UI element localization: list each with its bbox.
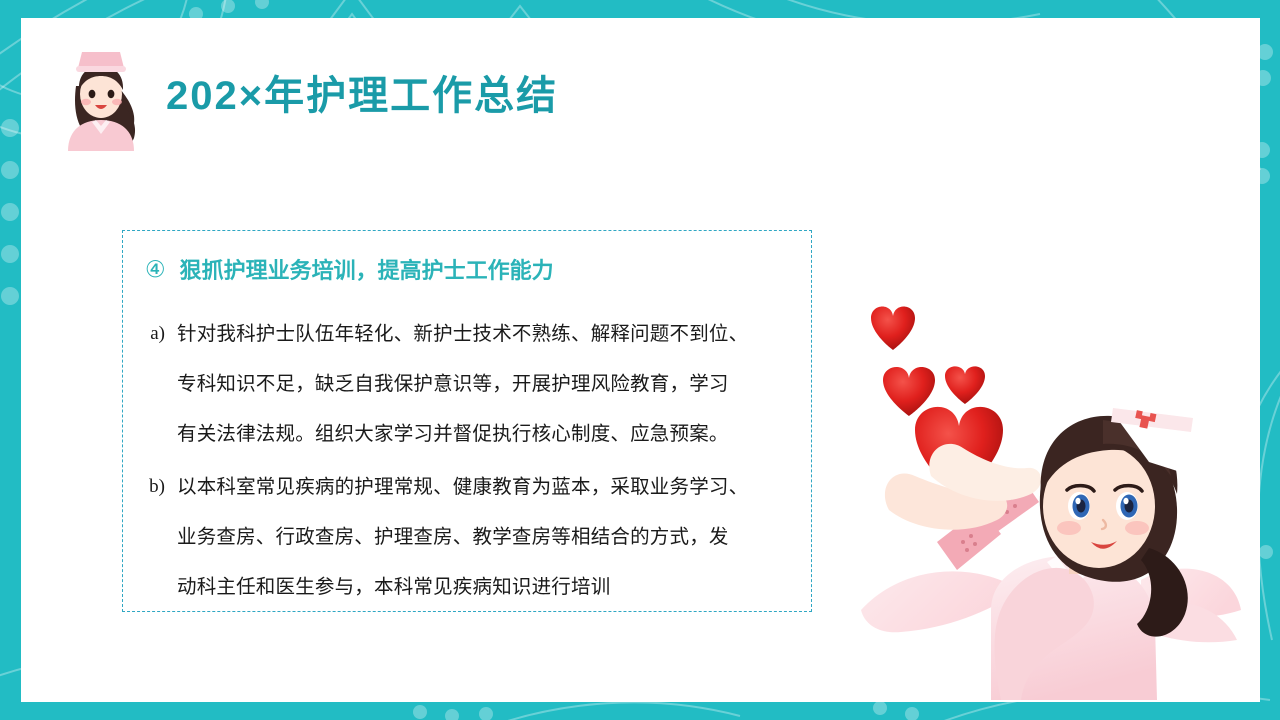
list-item-lines: 以本科室常见疾病的护理常规、健康教育为蓝本，采取业务学习、 业务查房、行政查房、… bbox=[177, 462, 803, 612]
list-item: b) 以本科室常见疾病的护理常规、健康教育为蓝本，采取业务学习、 业务查房、行政… bbox=[131, 462, 803, 612]
list-item-line: 业务查房、行政查房、护理查房、教学查房等相结合的方式，发 bbox=[177, 512, 803, 562]
content-card: 202×年护理工作总结 ④ 狠抓护理业务培训，提高护士工作能力 a) 针对我科护… bbox=[21, 18, 1260, 702]
list-item-lines: 针对我科护士队伍年轻化、新护士技术不熟练、解释问题不到位、 专科知识不足，缺乏自… bbox=[177, 309, 803, 459]
section-heading: ④ 狠抓护理业务培训，提高护士工作能力 bbox=[145, 253, 554, 285]
section-number-marker: ④ bbox=[145, 258, 166, 281]
list-item-line: 专科知识不足，缺乏自我保护意识等，开展护理风险教育，学习 bbox=[177, 359, 803, 409]
list-item-line: 有关法律法规。组织大家学习并督促执行核心制度、应急预案。 bbox=[177, 409, 803, 459]
content-dashed-box: ④ 狠抓护理业务培训，提高护士工作能力 a) 针对我科护士队伍年轻化、新护士技术… bbox=[122, 230, 812, 612]
list-item-line: 动科主任和医生参与，本科常见疾病知识进行培训 bbox=[177, 562, 803, 612]
list-item-marker: b) bbox=[131, 462, 177, 512]
nurse-avatar-icon bbox=[56, 46, 146, 151]
slide-header: 202×年护理工作总结 bbox=[21, 18, 1260, 168]
list-item-marker: a) bbox=[131, 309, 177, 359]
nurse-angel-with-hearts-illustration bbox=[841, 280, 1241, 700]
list-item: a) 针对我科护士队伍年轻化、新护士技术不熟练、解释问题不到位、 专科知识不足，… bbox=[131, 309, 803, 459]
slide: 202×年护理工作总结 ④ 狠抓护理业务培训，提高护士工作能力 a) 针对我科护… bbox=[0, 0, 1280, 720]
body-list: a) 针对我科护士队伍年轻化、新护士技术不熟练、解释问题不到位、 专科知识不足，… bbox=[131, 309, 803, 615]
page-title: 202×年护理工作总结 bbox=[166, 76, 558, 116]
list-item-line: 针对我科护士队伍年轻化、新护士技术不熟练、解释问题不到位、 bbox=[177, 309, 803, 359]
section-heading-text: 狠抓护理业务培训，提高护士工作能力 bbox=[180, 253, 554, 285]
list-item-line: 以本科室常见疾病的护理常规、健康教育为蓝本，采取业务学习、 bbox=[177, 462, 803, 512]
